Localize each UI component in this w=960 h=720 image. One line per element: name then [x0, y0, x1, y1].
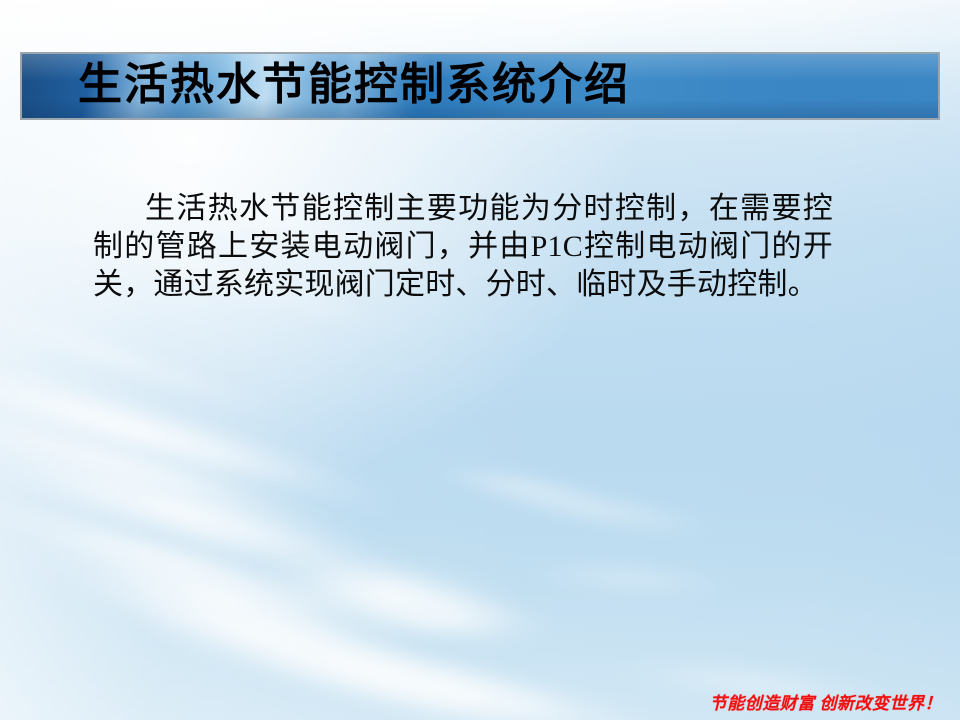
slide-canvas: 生活热水节能控制系统介绍 生活热水节能控制主要功能为分时控制，在需要控制的管路上… — [0, 0, 960, 720]
slide-body-paragraph: 生活热水节能控制主要功能为分时控制，在需要控制的管路上安装电动阀门，并由P1C控… — [93, 190, 833, 304]
footer-slogan: 节能创造财富 创新改变世界！ — [710, 689, 942, 714]
slide-title: 生活热水节能控制系统介绍 — [78, 54, 630, 118]
slide-title-banner: 生活热水节能控制系统介绍 — [20, 52, 940, 120]
